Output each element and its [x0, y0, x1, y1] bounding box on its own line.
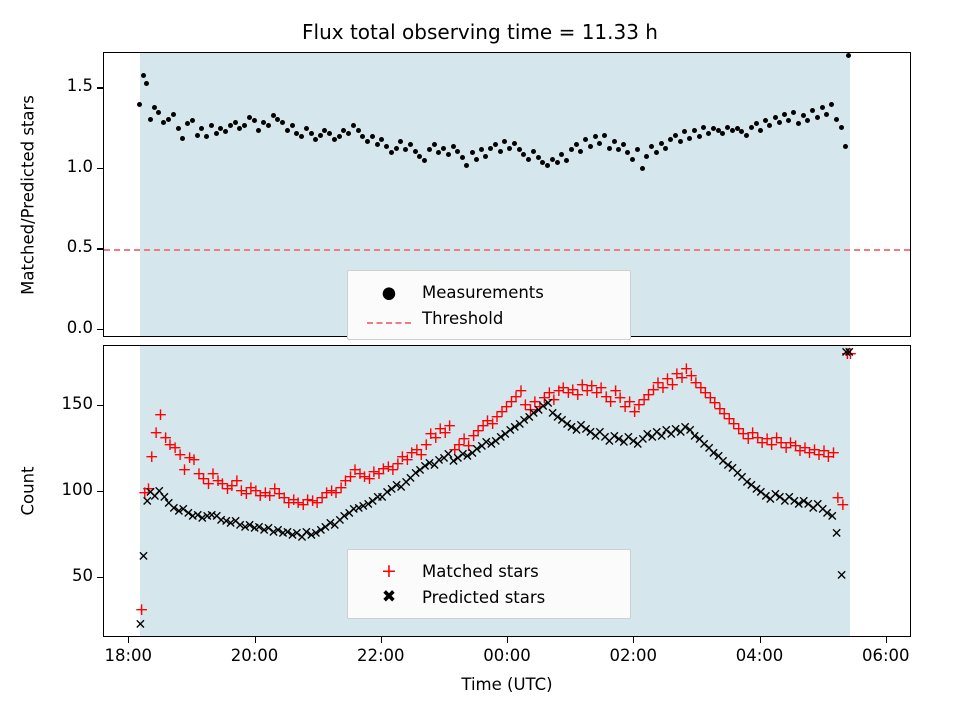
data-point: + — [443, 418, 457, 435]
x-tick-label: 04:00 — [736, 646, 784, 665]
legend-label-predicted: Predicted stars — [418, 588, 545, 607]
data-point: ✕ — [826, 510, 838, 524]
legend-label-measurements: Measurements — [418, 283, 544, 302]
data-point — [569, 147, 574, 152]
data-point — [304, 126, 309, 131]
legend-label-matched: Matched stars — [418, 562, 539, 581]
data-point — [701, 125, 706, 130]
x-tick-label: 06:00 — [862, 646, 910, 665]
ratio-y-tick-label: 0.0 — [67, 318, 93, 337]
legend-entry-predicted: ✖ Predicted stars — [360, 584, 618, 610]
data-point — [256, 128, 261, 133]
x-tick-label: 02:00 — [609, 646, 657, 665]
cross-marker-icon: ✖ — [360, 587, 418, 607]
data-point — [209, 123, 214, 128]
data-point — [749, 125, 754, 130]
data-point — [166, 117, 171, 122]
x-tick-label: 18:00 — [104, 646, 152, 665]
data-point — [754, 121, 759, 126]
x-tick-label: 00:00 — [483, 646, 531, 665]
data-point — [773, 115, 778, 120]
ratio-y-tick — [97, 168, 103, 169]
data-point — [507, 146, 512, 151]
data-point: ✕ — [836, 569, 848, 583]
data-point: + — [145, 449, 159, 466]
data-point — [834, 117, 839, 122]
data-point — [451, 144, 456, 149]
legend-label-threshold: Threshold — [418, 309, 503, 328]
data-point — [228, 123, 233, 128]
count-y-tick-label: 150 — [62, 394, 94, 413]
data-point — [285, 128, 290, 133]
data-point — [474, 157, 479, 162]
data-point: ✕ — [843, 346, 855, 360]
data-point — [692, 128, 697, 133]
data-point — [574, 142, 579, 147]
data-point — [815, 115, 820, 120]
data-point — [602, 133, 607, 138]
ratio-legend: ● Measurements Threshold — [347, 270, 631, 340]
count-y-tick-label: 100 — [62, 480, 94, 499]
ratio-y-tick-label: 1.5 — [67, 76, 93, 95]
data-point — [252, 118, 257, 123]
data-point — [441, 146, 446, 151]
x-tick-label: 22:00 — [357, 646, 405, 665]
data-point — [190, 118, 195, 123]
data-point — [141, 73, 146, 78]
data-point: + — [134, 602, 148, 619]
data-point — [318, 133, 323, 138]
ratio-y-tick-label: 0.5 — [67, 237, 93, 256]
threshold-dash-icon — [360, 309, 418, 328]
count-y-tick — [97, 405, 103, 406]
x-tick — [381, 637, 382, 643]
x-tick — [128, 637, 129, 643]
data-point — [394, 146, 399, 151]
data-point — [659, 141, 664, 146]
data-point — [417, 154, 422, 159]
x-axis-label: Time (UTC) — [461, 675, 552, 694]
ratio-y-tick — [97, 248, 103, 249]
figure: Flux total observing time = 11.33 h ++++… — [0, 0, 960, 720]
data-point — [280, 120, 285, 125]
data-point — [607, 146, 612, 151]
data-point — [673, 133, 678, 138]
data-point — [846, 53, 851, 58]
measurement-dot-icon: ● — [360, 283, 418, 302]
data-point — [233, 120, 238, 125]
data-point: + — [826, 445, 840, 462]
data-point — [446, 152, 451, 157]
data-point — [309, 131, 314, 136]
data-point — [555, 160, 560, 165]
data-point — [470, 150, 475, 155]
data-point: ✕ — [138, 550, 150, 564]
data-point — [593, 134, 598, 139]
data-point: ✕ — [134, 618, 146, 632]
data-point — [427, 147, 432, 152]
data-point — [730, 128, 735, 133]
data-point — [413, 149, 418, 154]
data-point — [839, 125, 844, 130]
x-tick-label: 20:00 — [231, 646, 279, 665]
data-point — [351, 123, 356, 128]
data-point — [195, 133, 200, 138]
data-point — [370, 134, 375, 139]
page-title: Flux total observing time = 11.33 h — [0, 20, 960, 44]
data-point: ✕ — [831, 527, 843, 541]
data-point — [578, 149, 583, 154]
x-tick — [633, 637, 634, 643]
data-point — [777, 120, 782, 125]
data-point — [432, 142, 437, 147]
data-point — [290, 123, 295, 128]
ratio-y-tick-label: 1.0 — [67, 157, 93, 176]
data-point — [550, 157, 555, 162]
legend-entry-matched: + Matched stars — [360, 558, 618, 584]
data-point — [512, 141, 517, 146]
data-point — [171, 112, 176, 117]
data-point — [782, 112, 787, 117]
data-point — [758, 128, 763, 133]
threshold-line — [104, 249, 910, 251]
data-point — [356, 128, 361, 133]
ratio-y-tick — [97, 329, 103, 330]
data-point — [824, 112, 829, 117]
x-tick — [886, 637, 887, 643]
plus-marker-icon: + — [360, 560, 418, 582]
data-point — [597, 141, 602, 146]
data-point — [588, 144, 593, 149]
data-point — [663, 146, 668, 151]
data-point — [635, 147, 640, 152]
ratio-y-axis-label: Matched/Predicted stars — [19, 95, 38, 295]
data-point — [697, 134, 702, 139]
x-tick — [255, 637, 256, 643]
data-point — [536, 155, 541, 160]
legend-entry-measurements: ● Measurements — [360, 279, 618, 305]
data-point — [498, 149, 503, 154]
count-legend: + Matched stars ✖ Predicted stars — [347, 549, 631, 619]
data-point — [247, 115, 252, 120]
data-point — [612, 139, 617, 144]
legend-entry-threshold: Threshold — [360, 305, 618, 331]
data-point — [408, 142, 413, 147]
count-y-tick — [97, 491, 103, 492]
data-point — [531, 149, 536, 154]
data-point — [455, 149, 460, 154]
data-point — [266, 123, 271, 128]
data-point — [148, 117, 153, 122]
data-point — [214, 131, 219, 136]
count-y-tick — [97, 577, 103, 578]
data-point — [711, 126, 716, 131]
data-point — [678, 139, 683, 144]
x-tick — [507, 637, 508, 643]
data-point — [517, 147, 522, 152]
count-y-axis-label: Count — [19, 466, 38, 515]
data-point — [644, 154, 649, 159]
count-y-tick-label: 50 — [72, 566, 93, 585]
ratio-y-tick — [97, 87, 103, 88]
x-tick — [760, 637, 761, 643]
data-point: + — [153, 407, 167, 424]
data-point — [744, 133, 749, 138]
